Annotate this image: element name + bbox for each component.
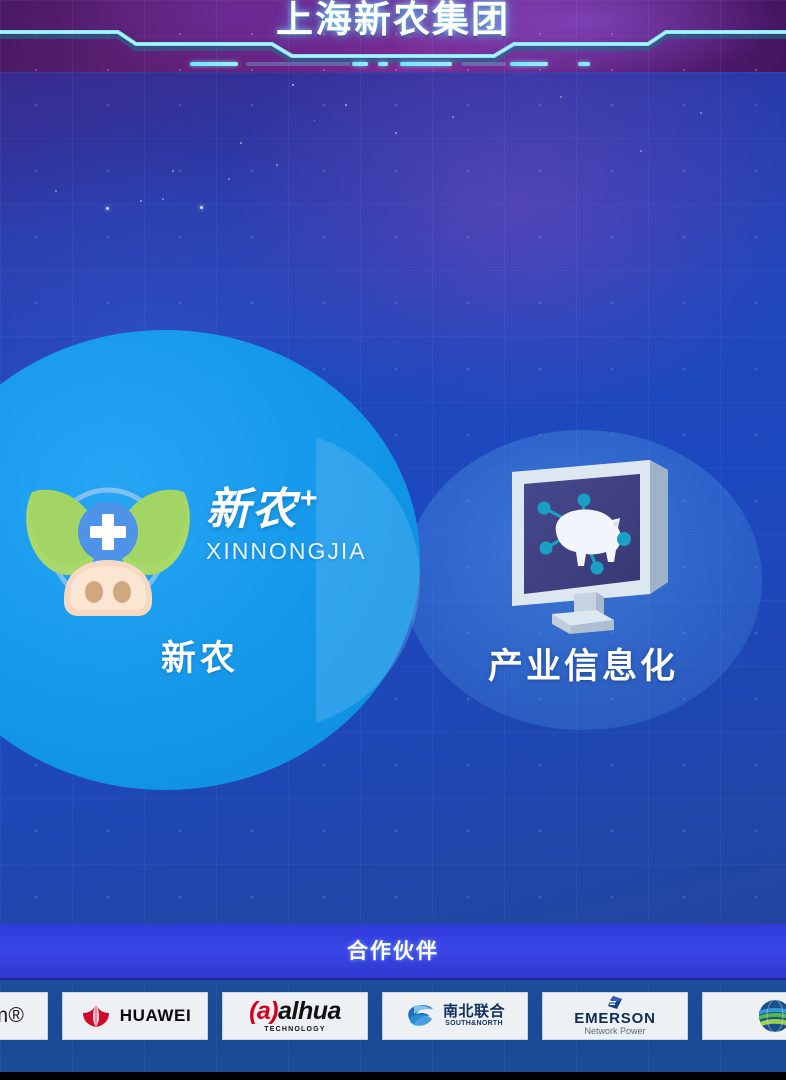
dahua-label: alhua <box>278 997 341 1025</box>
south-north-sublabel: SOUTH&NORTH <box>445 1020 503 1027</box>
emerson-diamond-icon <box>605 995 625 1011</box>
polycom-label: Polycom <box>0 1004 8 1028</box>
partner-logo-emerson[interactable]: EMERSON Network Power <box>542 992 688 1040</box>
wordmark-chinese: 新农 <box>206 484 298 536</box>
pig-plus-logo-icon <box>12 468 204 628</box>
partner-logo-globe[interactable] <box>702 992 786 1040</box>
header-tick-2 <box>246 62 350 66</box>
partners-logo-strip: Polycom® HUAWEI (a)alhua <box>0 980 786 1072</box>
partners-section-bar: 合作伙伴 <box>0 924 786 980</box>
registered-mark-icon: ® <box>8 1004 24 1028</box>
monitor-pig-network-icon <box>500 454 680 639</box>
dahua-a-icon: (a) <box>249 997 278 1025</box>
partner-logo-polycom[interactable]: Polycom® <box>0 992 48 1040</box>
striped-globe-icon <box>755 997 786 1035</box>
swoosh-globe-icon <box>405 1001 437 1031</box>
huawei-petals-icon <box>79 1003 113 1029</box>
wordmark-pinyin: XINNONGJIA <box>206 538 396 565</box>
header-tick-3 <box>352 62 368 66</box>
partner-logo-huawei[interactable]: HUAWEI <box>62 992 208 1040</box>
bottom-letterbox <box>0 1072 786 1080</box>
partner-logo-dahua[interactable]: (a)alhua TECHNOLOGY <box>222 992 368 1040</box>
header-tick-8 <box>578 62 590 66</box>
header-tick-1 <box>190 62 238 66</box>
header-tick-5 <box>400 62 452 66</box>
page-title: 上海新农集团 <box>0 0 786 46</box>
xinnong-wordmark: 新农+ XINNONGJIA <box>206 484 396 565</box>
header-tick-6 <box>462 62 506 66</box>
south-north-label: 南北联合 <box>443 1004 505 1020</box>
screen-root: 上海新农集团 <box>0 0 786 1080</box>
page-header: 上海新农集团 <box>0 0 786 72</box>
header-tick-4 <box>378 62 388 66</box>
huawei-label: HUAWEI <box>120 1006 192 1026</box>
partners-section-title: 合作伙伴 <box>0 924 786 980</box>
partner-card-list: Polycom® HUAWEI (a)alhua <box>0 992 786 1040</box>
emerson-label: EMERSON <box>574 1011 655 1028</box>
node-xinnong-label: 新农 <box>0 630 400 681</box>
dahua-sublabel: TECHNOLOGY <box>264 1026 325 1033</box>
wordmark-plus: + <box>300 484 318 514</box>
node-industry-label: 产业信息化 <box>404 638 762 689</box>
emerson-sublabel: Network Power <box>584 1027 645 1037</box>
header-tick-7 <box>510 62 548 66</box>
partner-logo-south-north[interactable]: 南北联合 SOUTH&NORTH <box>382 992 528 1040</box>
main-canvas: 新农+ XINNONGJIA 新农 <box>0 72 786 924</box>
